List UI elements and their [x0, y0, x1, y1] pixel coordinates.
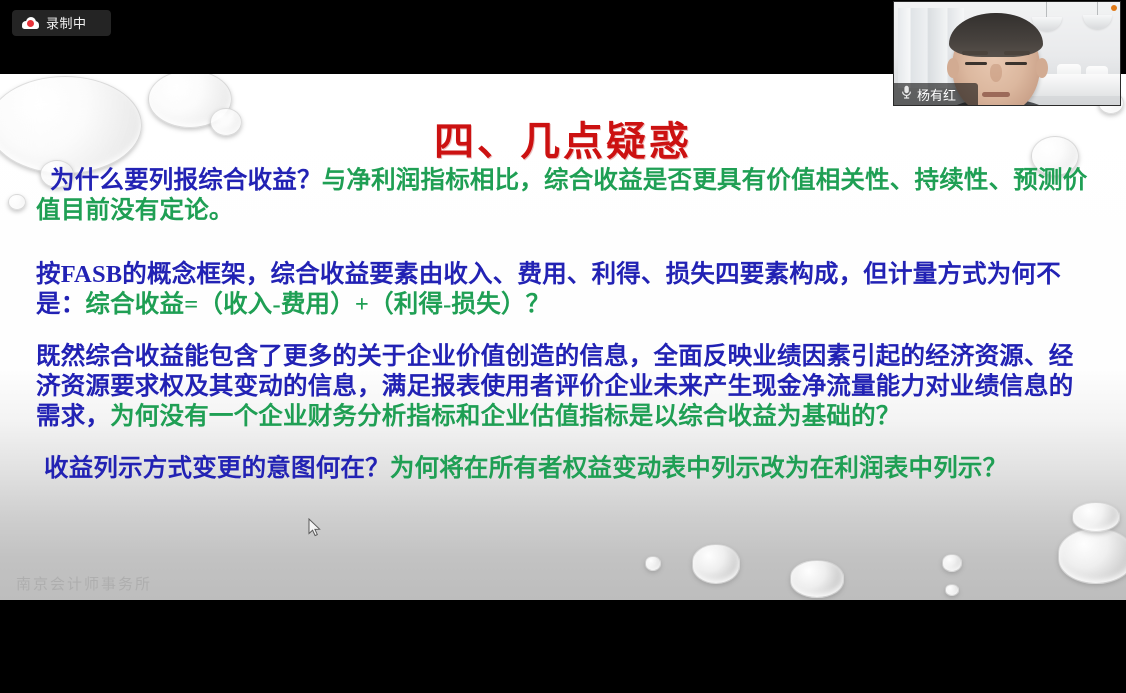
water-drop-decoration: [942, 554, 962, 572]
bubble-decoration: [8, 194, 26, 210]
slide-body: 为什么要列报综合收益？与净利润指标相比，综合收益是否更具有价值相关性、持续性、预…: [36, 166, 1096, 490]
person-eyebrow: [962, 51, 988, 55]
paragraph-detail-text: 为何将在所有者权益变动表中列示改为在利润表中列示？: [390, 455, 1008, 482]
water-drop-decoration: [1072, 502, 1120, 532]
status-indicator-dot: [1111, 5, 1117, 11]
water-drop-decoration: [692, 544, 740, 584]
paragraph-question-text: 为什么要列报综合收益？: [50, 167, 322, 194]
participant-name-bar: 杨有红: [894, 83, 978, 105]
slide-paragraph: 按FASB的概念框架，综合收益要素由收入、费用、利得、损失四要素构成，但计量方式…: [36, 260, 1096, 320]
participant-name: 杨有红: [917, 85, 956, 104]
pendant-lamp-icon: [1083, 15, 1112, 29]
slide-watermark: 南京会计师事务所: [16, 573, 152, 594]
cloud-recording-icon: [22, 17, 39, 29]
water-drop-decoration: [645, 556, 661, 571]
water-drop-decoration: [790, 560, 844, 598]
paragraph-detail-text: 综合收益=（收入-费用）+（利得-损失）？: [85, 291, 550, 318]
recording-label: 录制中: [46, 17, 87, 30]
paragraph-detail-text: 为何没有一个企业财务分析指标和企业估值指标是以综合收益为基础的？: [110, 403, 900, 430]
person-mouth: [982, 92, 1010, 97]
person-nose: [990, 64, 1002, 82]
participant-video-tile[interactable]: 杨有红: [893, 1, 1121, 106]
microphone-icon: [901, 85, 912, 104]
person-eye: [1005, 62, 1027, 65]
mouse-cursor: [308, 518, 322, 538]
water-drop-decoration: [945, 584, 959, 596]
person-ear: [947, 58, 959, 78]
slide-paragraph: 为什么要列报综合收益？与净利润指标相比，综合收益是否更具有价值相关性、持续性、预…: [36, 166, 1096, 226]
slide-paragraph: 既然综合收益能包含了更多的关于企业价值创造的信息，全面反映业绩因素引起的经济资源…: [36, 342, 1096, 432]
meeting-screen-share-view: 录制中 四、几点疑惑 为什么要列报综合收益？与净利润指标相比，综合收益是否更具有…: [0, 0, 1126, 693]
person-ear: [1036, 58, 1048, 78]
shared-slide: 四、几点疑惑 为什么要列报综合收益？与净利润指标相比，综合收益是否更具有价值相关…: [0, 74, 1126, 600]
bottom-control-bar: [0, 600, 1126, 693]
lamp-cord: [1046, 2, 1047, 18]
slide-title: 四、几点疑惑: [0, 109, 1126, 167]
slide-paragraph: 收益列示方式变更的意图何在？为何将在所有者权益变动表中列示改为在利润表中列示？: [36, 454, 1096, 484]
person-eye: [965, 62, 987, 65]
recording-badge: 录制中: [12, 10, 111, 36]
paragraph-question-text: 收益列示方式变更的意图何在？: [44, 455, 390, 482]
lamp-cord: [1097, 2, 1098, 16]
water-drop-decoration: [1058, 528, 1126, 584]
person-eyebrow: [1004, 51, 1030, 55]
